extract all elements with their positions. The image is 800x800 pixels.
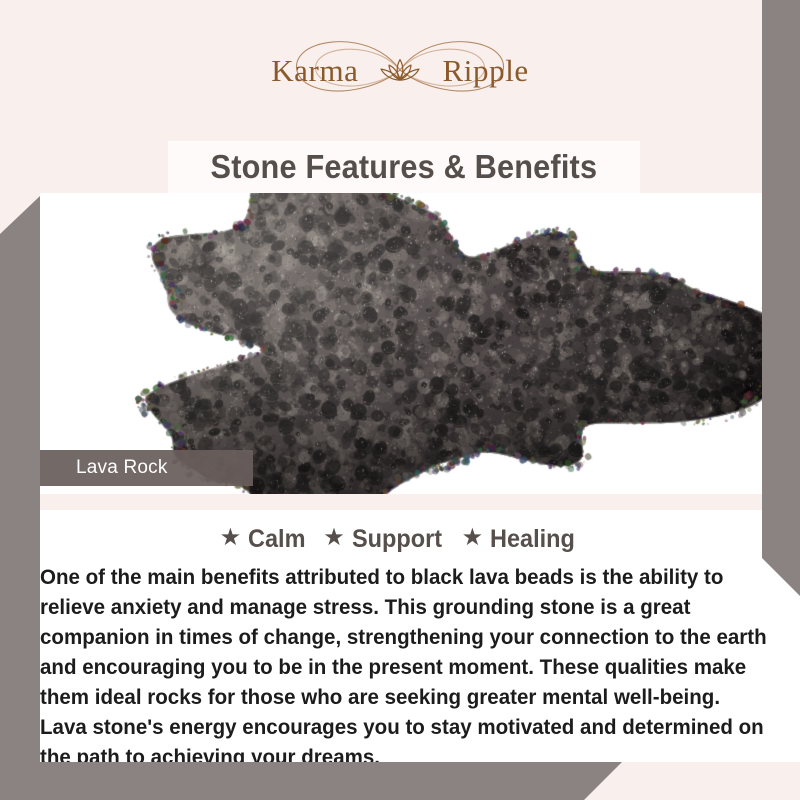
- divider-strip: [40, 494, 764, 510]
- benefit-label: Calm: [248, 525, 305, 554]
- content-panel: ★Calm★Support★Healing One of the main be…: [40, 510, 800, 762]
- title-banner: Stone Features & Benefits: [168, 141, 640, 193]
- benefit-label: Healing: [490, 525, 575, 554]
- star-icon: ★: [462, 526, 484, 550]
- photo-caption-bar: Lava Rock: [40, 450, 253, 486]
- frame-band-right: [762, 0, 800, 596]
- benefits-row: ★Calm★Support★Healing: [0, 522, 800, 556]
- star-icon: ★: [220, 526, 242, 550]
- infographic-card: Karma Ripple Stone Features & Benefits: [0, 0, 800, 800]
- page-title: Stone Features & Benefits: [211, 148, 598, 186]
- star-icon: ★: [323, 526, 345, 550]
- brand-logo: Karma Ripple: [250, 35, 550, 105]
- photo-panel: Lava Rock: [40, 193, 764, 494]
- lava-rock-photo: [40, 193, 764, 494]
- brand-name-left: Karma: [271, 55, 358, 86]
- brand-name-right: Ripple: [443, 55, 529, 86]
- frame-band-bottom: [0, 762, 622, 800]
- benefit-item: ★Support: [323, 525, 447, 554]
- frame-band-left: [0, 196, 40, 800]
- photo-caption-label: Lava Rock: [40, 457, 168, 479]
- benefit-item: ★Calm: [220, 525, 310, 554]
- body-paragraph: One of the main benefits attributed to b…: [40, 562, 787, 772]
- header: Karma Ripple: [0, 0, 800, 140]
- benefit-label: Support: [352, 525, 442, 554]
- benefit-item: ★Healing: [462, 525, 581, 554]
- lotus-icon: [377, 55, 423, 90]
